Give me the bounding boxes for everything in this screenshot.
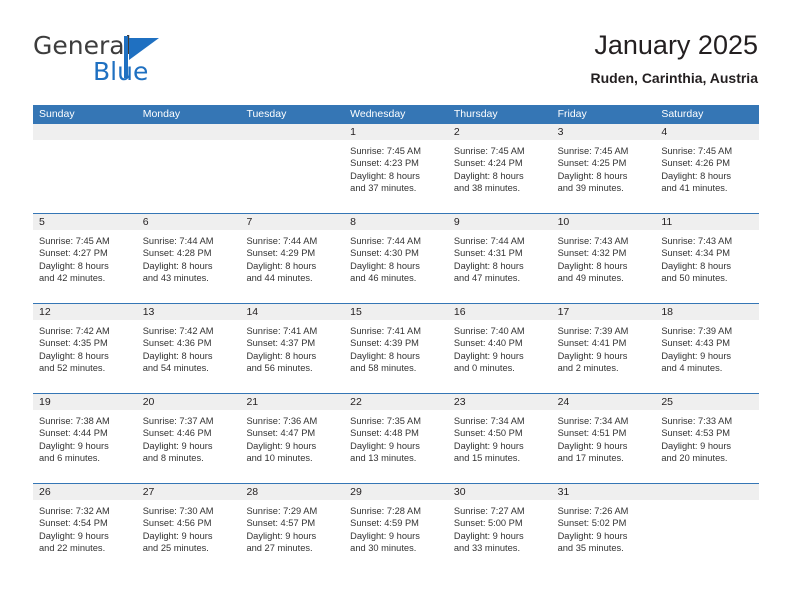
day-number-band: 27: [137, 484, 241, 501]
day-number-band: 16: [448, 304, 552, 321]
calendar-day-cell-29[interactable]: 29 Sunrise: 7:28 AM Sunset: 4:59 PM Dayl…: [344, 484, 448, 573]
day-sun-info: [240, 141, 344, 145]
day-sun-info: Sunrise: 7:32 AM Sunset: 4:54 PM Dayligh…: [33, 501, 137, 555]
day-number-band: 8: [344, 214, 448, 231]
sunset-text: Sunset: 4:35 PM: [39, 337, 131, 349]
sunrise-text: Sunrise: 7:35 AM: [350, 415, 442, 427]
sunset-text: Sunset: 4:24 PM: [454, 157, 546, 169]
day-sun-info: Sunrise: 7:45 AM Sunset: 4:25 PM Dayligh…: [552, 141, 656, 195]
day-number: 5: [33, 214, 137, 231]
day-number: 30: [448, 484, 552, 501]
weekday-sunday: Sunday: [33, 105, 137, 124]
daylight-text-line1: Daylight: 9 hours: [558, 350, 650, 362]
day-number: 23: [448, 394, 552, 411]
calendar-weeks: 1 Sunrise: 7:45 AM Sunset: 4:23 PM Dayli…: [33, 124, 759, 573]
day-sun-info: Sunrise: 7:40 AM Sunset: 4:40 PM Dayligh…: [448, 321, 552, 375]
sunset-text: Sunset: 4:51 PM: [558, 427, 650, 439]
daylight-text-line2: and 39 minutes.: [558, 182, 650, 194]
day-number: 19: [33, 394, 137, 411]
location-subtitle: Ruden, Carinthia, Austria: [590, 68, 758, 88]
sunset-text: Sunset: 4:39 PM: [350, 337, 442, 349]
day-number-band: 2: [448, 124, 552, 141]
day-sun-info: Sunrise: 7:36 AM Sunset: 4:47 PM Dayligh…: [240, 411, 344, 465]
day-number: 29: [344, 484, 448, 501]
day-number-band: 7: [240, 214, 344, 231]
day-number-band: [33, 124, 137, 141]
calendar-day-cell-16[interactable]: 16 Sunrise: 7:40 AM Sunset: 4:40 PM Dayl…: [448, 304, 552, 393]
daylight-text-line1: Daylight: 9 hours: [143, 440, 235, 452]
day-number-band: 15: [344, 304, 448, 321]
sunset-text: Sunset: 4:56 PM: [143, 517, 235, 529]
day-sun-info: Sunrise: 7:44 AM Sunset: 4:29 PM Dayligh…: [240, 231, 344, 285]
daylight-text-line2: and 13 minutes.: [350, 452, 442, 464]
weekday-wednesday: Wednesday: [344, 105, 448, 124]
calendar-day-cell-21[interactable]: 21 Sunrise: 7:36 AM Sunset: 4:47 PM Dayl…: [240, 394, 344, 483]
day-number-band: 30: [448, 484, 552, 501]
sunset-text: Sunset: 4:23 PM: [350, 157, 442, 169]
day-number: 31: [552, 484, 656, 501]
daylight-text-line2: and 27 minutes.: [246, 542, 338, 554]
day-number: 21: [240, 394, 344, 411]
calendar-day-cell-26[interactable]: 26 Sunrise: 7:32 AM Sunset: 4:54 PM Dayl…: [33, 484, 137, 573]
day-number-band: 1: [344, 124, 448, 141]
sunrise-text: Sunrise: 7:45 AM: [454, 145, 546, 157]
day-sun-info: [655, 501, 759, 505]
sunrise-text: Sunrise: 7:43 AM: [558, 235, 650, 247]
day-sun-info: Sunrise: 7:41 AM Sunset: 4:37 PM Dayligh…: [240, 321, 344, 375]
day-sun-info: Sunrise: 7:44 AM Sunset: 4:30 PM Dayligh…: [344, 231, 448, 285]
calendar-week-row-3: 12 Sunrise: 7:42 AM Sunset: 4:35 PM Dayl…: [33, 303, 759, 393]
daylight-text-line2: and 50 minutes.: [661, 272, 753, 284]
day-number-band: 19: [33, 394, 137, 411]
daylight-text-line2: and 35 minutes.: [558, 542, 650, 554]
daylight-text-line1: Daylight: 9 hours: [143, 530, 235, 542]
sunset-text: Sunset: 4:30 PM: [350, 247, 442, 259]
sunset-text: Sunset: 4:44 PM: [39, 427, 131, 439]
day-number: 20: [137, 394, 241, 411]
weekday-saturday: Saturday: [655, 105, 759, 124]
day-number-band: 26: [33, 484, 137, 501]
daylight-text-line2: and 58 minutes.: [350, 362, 442, 374]
day-sun-info: [33, 141, 137, 145]
daylight-text-line1: Daylight: 8 hours: [143, 260, 235, 272]
sunset-text: Sunset: 4:34 PM: [661, 247, 753, 259]
sunrise-text: Sunrise: 7:45 AM: [661, 145, 753, 157]
daylight-text-line1: Daylight: 8 hours: [246, 260, 338, 272]
day-number-band: 23: [448, 394, 552, 411]
daylight-text-line2: and 46 minutes.: [350, 272, 442, 284]
day-sun-info: Sunrise: 7:37 AM Sunset: 4:46 PM Dayligh…: [137, 411, 241, 465]
day-number-band: 5: [33, 214, 137, 231]
calendar-day-cell-2[interactable]: 2 Sunrise: 7:45 AM Sunset: 4:24 PM Dayli…: [448, 124, 552, 213]
daylight-text-line2: and 43 minutes.: [143, 272, 235, 284]
daylight-text-line1: Daylight: 9 hours: [661, 440, 753, 452]
daylight-text-line2: and 37 minutes.: [350, 182, 442, 194]
calendar-day-cell-31[interactable]: 31 Sunrise: 7:26 AM Sunset: 5:02 PM Dayl…: [552, 484, 656, 573]
day-number: 8: [344, 214, 448, 231]
day-number-band: 9: [448, 214, 552, 231]
day-sun-info: Sunrise: 7:42 AM Sunset: 4:35 PM Dayligh…: [33, 321, 137, 375]
sunrise-text: Sunrise: 7:34 AM: [454, 415, 546, 427]
day-sun-info: Sunrise: 7:39 AM Sunset: 4:41 PM Dayligh…: [552, 321, 656, 375]
day-number: 22: [344, 394, 448, 411]
daylight-text-line2: and 0 minutes.: [454, 362, 546, 374]
calendar-day-cell-24[interactable]: 24 Sunrise: 7:34 AM Sunset: 4:51 PM Dayl…: [552, 394, 656, 483]
daylight-text-line1: Daylight: 9 hours: [558, 440, 650, 452]
day-number: 3: [552, 124, 656, 141]
weekday-friday: Friday: [552, 105, 656, 124]
day-sun-info: Sunrise: 7:30 AM Sunset: 4:56 PM Dayligh…: [137, 501, 241, 555]
logo-text-general: General: [33, 32, 132, 60]
sunrise-text: Sunrise: 7:44 AM: [454, 235, 546, 247]
daylight-text-line1: Daylight: 8 hours: [661, 260, 753, 272]
day-number: 24: [552, 394, 656, 411]
sunrise-text: Sunrise: 7:43 AM: [661, 235, 753, 247]
daylight-text-line1: Daylight: 9 hours: [246, 440, 338, 452]
sunrise-text: Sunrise: 7:34 AM: [558, 415, 650, 427]
daylight-text-line1: Daylight: 9 hours: [661, 350, 753, 362]
day-sun-info: Sunrise: 7:26 AM Sunset: 5:02 PM Dayligh…: [552, 501, 656, 555]
day-number: 9: [448, 214, 552, 231]
sunset-text: Sunset: 4:37 PM: [246, 337, 338, 349]
sunset-text: Sunset: 4:31 PM: [454, 247, 546, 259]
daylight-text-line2: and 41 minutes.: [661, 182, 753, 194]
daylight-text-line2: and 33 minutes.: [454, 542, 546, 554]
daylight-text-line1: Daylight: 9 hours: [39, 440, 131, 452]
sunrise-text: Sunrise: 7:45 AM: [350, 145, 442, 157]
calendar-day-cell-14[interactable]: 14 Sunrise: 7:41 AM Sunset: 4:37 PM Dayl…: [240, 304, 344, 393]
daylight-text-line2: and 56 minutes.: [246, 362, 338, 374]
daylight-text-line1: Daylight: 9 hours: [39, 530, 131, 542]
calendar-day-cell-28[interactable]: 28 Sunrise: 7:29 AM Sunset: 4:57 PM Dayl…: [240, 484, 344, 573]
sunrise-text: Sunrise: 7:44 AM: [246, 235, 338, 247]
calendar-day-cell-18[interactable]: 18 Sunrise: 7:39 AM Sunset: 4:43 PM Dayl…: [655, 304, 759, 393]
calendar-week-row-4: 19 Sunrise: 7:38 AM Sunset: 4:44 PM Dayl…: [33, 393, 759, 483]
day-sun-info: Sunrise: 7:28 AM Sunset: 4:59 PM Dayligh…: [344, 501, 448, 555]
daylight-text-line1: Daylight: 8 hours: [661, 170, 753, 182]
sunrise-text: Sunrise: 7:44 AM: [143, 235, 235, 247]
day-sun-info: Sunrise: 7:45 AM Sunset: 4:24 PM Dayligh…: [448, 141, 552, 195]
daylight-text-line2: and 4 minutes.: [661, 362, 753, 374]
day-number: 13: [137, 304, 241, 321]
sunset-text: Sunset: 4:27 PM: [39, 247, 131, 259]
sunrise-text: Sunrise: 7:38 AM: [39, 415, 131, 427]
calendar-day-cell-22[interactable]: 22 Sunrise: 7:35 AM Sunset: 4:48 PM Dayl…: [344, 394, 448, 483]
day-number-band: 11: [655, 214, 759, 231]
daylight-text-line2: and 8 minutes.: [143, 452, 235, 464]
day-sun-info: Sunrise: 7:43 AM Sunset: 4:32 PM Dayligh…: [552, 231, 656, 285]
day-number-band: [137, 124, 241, 141]
day-number-band: 31: [552, 484, 656, 501]
sunrise-text: Sunrise: 7:44 AM: [350, 235, 442, 247]
daylight-text-line2: and 17 minutes.: [558, 452, 650, 464]
sunrise-text: Sunrise: 7:37 AM: [143, 415, 235, 427]
sunrise-text: Sunrise: 7:27 AM: [454, 505, 546, 517]
daylight-text-line1: Daylight: 8 hours: [454, 260, 546, 272]
day-number-band: 21: [240, 394, 344, 411]
day-number-band: 22: [344, 394, 448, 411]
daylight-text-line2: and 6 minutes.: [39, 452, 131, 464]
day-number: 18: [655, 304, 759, 321]
sunset-text: Sunset: 4:28 PM: [143, 247, 235, 259]
day-number-band: 10: [552, 214, 656, 231]
day-sun-info: Sunrise: 7:34 AM Sunset: 4:51 PM Dayligh…: [552, 411, 656, 465]
day-sun-info: Sunrise: 7:29 AM Sunset: 4:57 PM Dayligh…: [240, 501, 344, 555]
calendar-day-cell-4[interactable]: 4 Sunrise: 7:45 AM Sunset: 4:26 PM Dayli…: [655, 124, 759, 213]
sunset-text: Sunset: 4:25 PM: [558, 157, 650, 169]
sunset-text: Sunset: 5:02 PM: [558, 517, 650, 529]
sunset-text: Sunset: 4:41 PM: [558, 337, 650, 349]
daylight-text-line2: and 49 minutes.: [558, 272, 650, 284]
day-number-band: 20: [137, 394, 241, 411]
day-sun-info: Sunrise: 7:34 AM Sunset: 4:50 PM Dayligh…: [448, 411, 552, 465]
sunrise-text: Sunrise: 7:45 AM: [39, 235, 131, 247]
daylight-text-line2: and 15 minutes.: [454, 452, 546, 464]
calendar-week-row-2: 5 Sunrise: 7:45 AM Sunset: 4:27 PM Dayli…: [33, 213, 759, 303]
calendar-day-cell-23[interactable]: 23 Sunrise: 7:34 AM Sunset: 4:50 PM Dayl…: [448, 394, 552, 483]
sunset-text: Sunset: 4:32 PM: [558, 247, 650, 259]
day-number-band: 29: [344, 484, 448, 501]
day-number: 2: [448, 124, 552, 141]
day-sun-info: Sunrise: 7:39 AM Sunset: 4:43 PM Dayligh…: [655, 321, 759, 375]
calendar-day-cell-30[interactable]: 30 Sunrise: 7:27 AM Sunset: 5:00 PM Dayl…: [448, 484, 552, 573]
sunrise-text: Sunrise: 7:26 AM: [558, 505, 650, 517]
daylight-text-line1: Daylight: 8 hours: [454, 170, 546, 182]
day-sun-info: Sunrise: 7:45 AM Sunset: 4:23 PM Dayligh…: [344, 141, 448, 195]
calendar-day-cell-empty: [33, 124, 137, 213]
daylight-text-line1: Daylight: 8 hours: [39, 350, 131, 362]
day-number-band: 28: [240, 484, 344, 501]
daylight-text-line1: Daylight: 8 hours: [143, 350, 235, 362]
calendar-day-cell-13[interactable]: 13 Sunrise: 7:42 AM Sunset: 4:36 PM Dayl…: [137, 304, 241, 393]
day-sun-info: Sunrise: 7:38 AM Sunset: 4:44 PM Dayligh…: [33, 411, 137, 465]
day-number-band: 25: [655, 394, 759, 411]
daylight-text-line2: and 54 minutes.: [143, 362, 235, 374]
day-number-band: 6: [137, 214, 241, 231]
daylight-text-line1: Daylight: 9 hours: [454, 440, 546, 452]
day-number-band: 17: [552, 304, 656, 321]
daylight-text-line1: Daylight: 8 hours: [558, 260, 650, 272]
day-number: 14: [240, 304, 344, 321]
day-number: 4: [655, 124, 759, 141]
daylight-text-line1: Daylight: 8 hours: [350, 260, 442, 272]
daylight-text-line1: Daylight: 9 hours: [558, 530, 650, 542]
daylight-text-line1: Daylight: 8 hours: [350, 350, 442, 362]
sunset-text: Sunset: 4:48 PM: [350, 427, 442, 439]
calendar-day-cell-12[interactable]: 12 Sunrise: 7:42 AM Sunset: 4:35 PM Dayl…: [33, 304, 137, 393]
day-number-band: 14: [240, 304, 344, 321]
general-blue-logo[interactable]: General Blue: [33, 32, 213, 88]
weekday-header-row: Sunday Monday Tuesday Wednesday Thursday…: [33, 105, 759, 124]
calendar-day-cell-empty: [655, 484, 759, 573]
day-number-band: 4: [655, 124, 759, 141]
day-number: 11: [655, 214, 759, 231]
sunrise-text: Sunrise: 7:42 AM: [143, 325, 235, 337]
daylight-text-line1: Daylight: 9 hours: [350, 530, 442, 542]
day-number: 12: [33, 304, 137, 321]
day-number: 6: [137, 214, 241, 231]
day-sun-info: Sunrise: 7:27 AM Sunset: 5:00 PM Dayligh…: [448, 501, 552, 555]
calendar-day-cell-19[interactable]: 19 Sunrise: 7:38 AM Sunset: 4:44 PM Dayl…: [33, 394, 137, 483]
weekday-thursday: Thursday: [448, 105, 552, 124]
calendar-day-cell-10[interactable]: 10 Sunrise: 7:43 AM Sunset: 4:32 PM Dayl…: [552, 214, 656, 303]
calendar-day-cell-15[interactable]: 15 Sunrise: 7:41 AM Sunset: 4:39 PM Dayl…: [344, 304, 448, 393]
weekday-monday: Monday: [137, 105, 241, 124]
logo-text-blue: Blue: [93, 58, 148, 86]
weekday-tuesday: Tuesday: [240, 105, 344, 124]
calendar-day-cell-20[interactable]: 20 Sunrise: 7:37 AM Sunset: 4:46 PM Dayl…: [137, 394, 241, 483]
daylight-text-line2: and 10 minutes.: [246, 452, 338, 464]
calendar-day-cell-11[interactable]: 11 Sunrise: 7:43 AM Sunset: 4:34 PM Dayl…: [655, 214, 759, 303]
sunset-text: Sunset: 4:47 PM: [246, 427, 338, 439]
sunrise-text: Sunrise: 7:42 AM: [39, 325, 131, 337]
title-block: January 2025 Ruden, Carinthia, Austria: [590, 28, 758, 88]
day-number: 28: [240, 484, 344, 501]
day-number: 16: [448, 304, 552, 321]
calendar-day-cell-27[interactable]: 27 Sunrise: 7:30 AM Sunset: 4:56 PM Dayl…: [137, 484, 241, 573]
day-sun-info: Sunrise: 7:42 AM Sunset: 4:36 PM Dayligh…: [137, 321, 241, 375]
sunrise-text: Sunrise: 7:40 AM: [454, 325, 546, 337]
calendar-page: General Blue January 2025 Ruden, Carinth…: [0, 0, 792, 612]
calendar-day-cell-7[interactable]: 7 Sunrise: 7:44 AM Sunset: 4:29 PM Dayli…: [240, 214, 344, 303]
calendar-day-cell-8[interactable]: 8 Sunrise: 7:44 AM Sunset: 4:30 PM Dayli…: [344, 214, 448, 303]
sunrise-text: Sunrise: 7:30 AM: [143, 505, 235, 517]
day-sun-info: Sunrise: 7:41 AM Sunset: 4:39 PM Dayligh…: [344, 321, 448, 375]
day-number: 27: [137, 484, 241, 501]
daylight-text-line2: and 22 minutes.: [39, 542, 131, 554]
day-number-band: [655, 484, 759, 501]
calendar-grid: Sunday Monday Tuesday Wednesday Thursday…: [33, 105, 759, 573]
calendar-day-cell-empty: [240, 124, 344, 213]
daylight-text-line1: Daylight: 8 hours: [39, 260, 131, 272]
daylight-text-line1: Daylight: 9 hours: [350, 440, 442, 452]
daylight-text-line2: and 25 minutes.: [143, 542, 235, 554]
day-number: 1: [344, 124, 448, 141]
daylight-text-line1: Daylight: 9 hours: [454, 530, 546, 542]
sunrise-text: Sunrise: 7:39 AM: [558, 325, 650, 337]
calendar-day-cell-5[interactable]: 5 Sunrise: 7:45 AM Sunset: 4:27 PM Dayli…: [33, 214, 137, 303]
daylight-text-line2: and 20 minutes.: [661, 452, 753, 464]
calendar-week-row-1: 1 Sunrise: 7:45 AM Sunset: 4:23 PM Dayli…: [33, 124, 759, 213]
sunset-text: Sunset: 4:29 PM: [246, 247, 338, 259]
sunset-text: Sunset: 4:54 PM: [39, 517, 131, 529]
day-number: 7: [240, 214, 344, 231]
day-number: 17: [552, 304, 656, 321]
sunset-text: Sunset: 4:36 PM: [143, 337, 235, 349]
calendar-day-cell-9[interactable]: 9 Sunrise: 7:44 AM Sunset: 4:31 PM Dayli…: [448, 214, 552, 303]
sunrise-text: Sunrise: 7:41 AM: [350, 325, 442, 337]
day-number: 26: [33, 484, 137, 501]
day-number-band: [240, 124, 344, 141]
day-number: 10: [552, 214, 656, 231]
sunrise-text: Sunrise: 7:28 AM: [350, 505, 442, 517]
sunset-text: Sunset: 4:59 PM: [350, 517, 442, 529]
daylight-text-line2: and 44 minutes.: [246, 272, 338, 284]
daylight-text-line2: and 47 minutes.: [454, 272, 546, 284]
page-title: January 2025: [590, 28, 758, 62]
day-sun-info: Sunrise: 7:44 AM Sunset: 4:28 PM Dayligh…: [137, 231, 241, 285]
day-number-band: 13: [137, 304, 241, 321]
daylight-text-line1: Daylight: 8 hours: [350, 170, 442, 182]
day-number-band: 12: [33, 304, 137, 321]
day-number: 25: [655, 394, 759, 411]
daylight-text-line2: and 52 minutes.: [39, 362, 131, 374]
daylight-text-line1: Daylight: 8 hours: [246, 350, 338, 362]
daylight-text-line1: Daylight: 9 hours: [454, 350, 546, 362]
calendar-day-cell-1[interactable]: 1 Sunrise: 7:45 AM Sunset: 4:23 PM Dayli…: [344, 124, 448, 213]
sunrise-text: Sunrise: 7:36 AM: [246, 415, 338, 427]
sunset-text: Sunset: 4:43 PM: [661, 337, 753, 349]
calendar-day-cell-17[interactable]: 17 Sunrise: 7:39 AM Sunset: 4:41 PM Dayl…: [552, 304, 656, 393]
day-sun-info: Sunrise: 7:45 AM Sunset: 4:26 PM Dayligh…: [655, 141, 759, 195]
daylight-text-line2: and 38 minutes.: [454, 182, 546, 194]
daylight-text-line2: and 30 minutes.: [350, 542, 442, 554]
day-sun-info: Sunrise: 7:44 AM Sunset: 4:31 PM Dayligh…: [448, 231, 552, 285]
sunset-text: Sunset: 4:50 PM: [454, 427, 546, 439]
sunset-text: Sunset: 4:46 PM: [143, 427, 235, 439]
sunrise-text: Sunrise: 7:29 AM: [246, 505, 338, 517]
sunset-text: Sunset: 4:53 PM: [661, 427, 753, 439]
daylight-text-line2: and 2 minutes.: [558, 362, 650, 374]
sunrise-text: Sunrise: 7:39 AM: [661, 325, 753, 337]
day-number-band: 3: [552, 124, 656, 141]
day-number-band: 18: [655, 304, 759, 321]
daylight-text-line1: Daylight: 9 hours: [246, 530, 338, 542]
daylight-text-line1: Daylight: 8 hours: [558, 170, 650, 182]
daylight-text-line2: and 42 minutes.: [39, 272, 131, 284]
calendar-week-row-5: 26 Sunrise: 7:32 AM Sunset: 4:54 PM Dayl…: [33, 483, 759, 573]
sunrise-text: Sunrise: 7:41 AM: [246, 325, 338, 337]
sunrise-text: Sunrise: 7:33 AM: [661, 415, 753, 427]
calendar-day-cell-25[interactable]: 25 Sunrise: 7:33 AM Sunset: 4:53 PM Dayl…: [655, 394, 759, 483]
calendar-day-cell-6[interactable]: 6 Sunrise: 7:44 AM Sunset: 4:28 PM Dayli…: [137, 214, 241, 303]
calendar-day-cell-empty: [137, 124, 241, 213]
calendar-day-cell-3[interactable]: 3 Sunrise: 7:45 AM Sunset: 4:25 PM Dayli…: [552, 124, 656, 213]
day-sun-info: Sunrise: 7:45 AM Sunset: 4:27 PM Dayligh…: [33, 231, 137, 285]
day-number: 15: [344, 304, 448, 321]
sunset-text: Sunset: 4:26 PM: [661, 157, 753, 169]
day-sun-info: Sunrise: 7:33 AM Sunset: 4:53 PM Dayligh…: [655, 411, 759, 465]
page-header: General Blue January 2025 Ruden, Carinth…: [33, 28, 758, 98]
sunrise-text: Sunrise: 7:45 AM: [558, 145, 650, 157]
sunset-text: Sunset: 4:57 PM: [246, 517, 338, 529]
day-sun-info: Sunrise: 7:43 AM Sunset: 4:34 PM Dayligh…: [655, 231, 759, 285]
sunset-text: Sunset: 5:00 PM: [454, 517, 546, 529]
sunrise-text: Sunrise: 7:32 AM: [39, 505, 131, 517]
day-number-band: 24: [552, 394, 656, 411]
day-sun-info: [137, 141, 241, 145]
sunset-text: Sunset: 4:40 PM: [454, 337, 546, 349]
day-sun-info: Sunrise: 7:35 AM Sunset: 4:48 PM Dayligh…: [344, 411, 448, 465]
